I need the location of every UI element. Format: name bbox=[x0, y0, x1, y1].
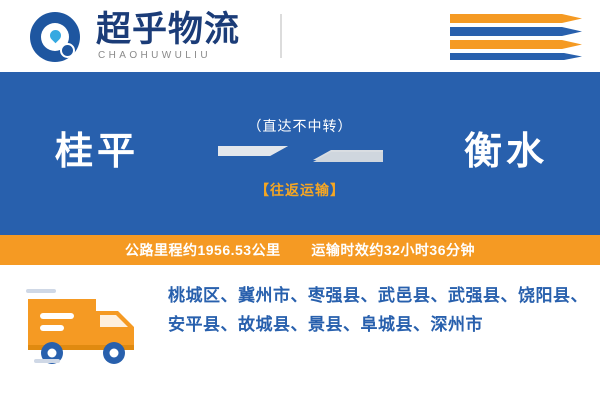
bidirectional-arrows-icon bbox=[218, 140, 383, 176]
route-panel: 桂平 （直达不中转） 衡水 【往返运输】 bbox=[0, 72, 600, 235]
brand-divider bbox=[280, 14, 282, 58]
delivery-truck-icon bbox=[26, 283, 150, 369]
brand-name-cn: 超乎物流 bbox=[96, 12, 240, 48]
route-tag: 【往返运输】 bbox=[0, 180, 600, 200]
duration-text: 运输时效约32小时36分钟 bbox=[311, 242, 475, 258]
distance-text: 公路里程约1956.53公里 bbox=[125, 242, 281, 258]
logo-dot bbox=[60, 43, 75, 58]
double-chevron-right-icon bbox=[450, 14, 582, 60]
brand-name-en: CHAOHUWULIU bbox=[98, 50, 211, 61]
header: 超乎物流 CHAOHUWULIU bbox=[0, 0, 600, 72]
coverage-section: 桃城区、冀州市、枣强县、武邑县、武强县、饶阳县、 安平县、故城县、景县、阜城县、… bbox=[0, 265, 600, 400]
coverage-line-1: 桃城区、冀州市、枣强县、武邑县、武强县、饶阳县、 bbox=[168, 281, 578, 310]
coverage-line-2: 安平县、故城县、景县、阜城县、深州市 bbox=[168, 310, 578, 339]
logistics-banner: 超乎物流 CHAOHUWULIU 桂平 （直达不中转） bbox=[0, 0, 600, 400]
destination-city: 衡水 bbox=[464, 120, 548, 175]
coverage-list: 桃城区、冀州市、枣强县、武邑县、武强县、饶阳县、 安平县、故城县、景县、阜城县、… bbox=[168, 281, 578, 339]
stats-bar: 公路里程约1956.53公里 运输时效约32小时36分钟 bbox=[0, 235, 600, 265]
circle-droplet-logo-icon bbox=[30, 12, 80, 62]
